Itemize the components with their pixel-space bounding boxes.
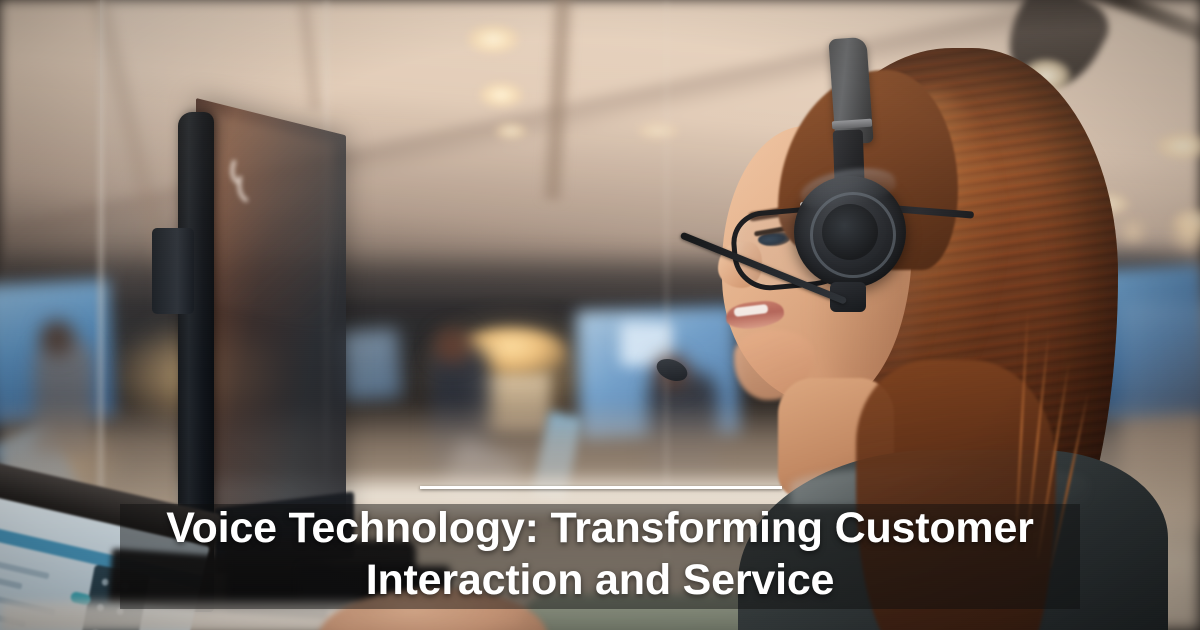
laptop-ui-dot xyxy=(101,578,109,586)
laptop-ui-row xyxy=(0,552,49,579)
background-person xyxy=(40,320,74,356)
headset-earcup-inner xyxy=(822,204,878,260)
ceiling-downlight-icon xyxy=(466,24,520,54)
background-screen xyxy=(338,328,403,402)
title-divider xyxy=(420,486,782,489)
monitor-reflection xyxy=(214,113,334,333)
hero-banner: Voice Technology: Transforming Customer … xyxy=(0,0,1200,630)
page-title: Voice Technology: Transforming Customer … xyxy=(120,498,1080,610)
page-title-line-1: Voice Technology: Transforming Customer xyxy=(166,502,1033,554)
ceiling-downlight-icon xyxy=(478,82,524,108)
monitor-arm xyxy=(152,228,194,314)
page-title-line-2: Interaction and Service xyxy=(366,554,835,606)
background-person xyxy=(434,328,470,364)
ceiling-downlight-icon xyxy=(494,122,528,140)
monitor-logo-icon xyxy=(228,158,262,204)
